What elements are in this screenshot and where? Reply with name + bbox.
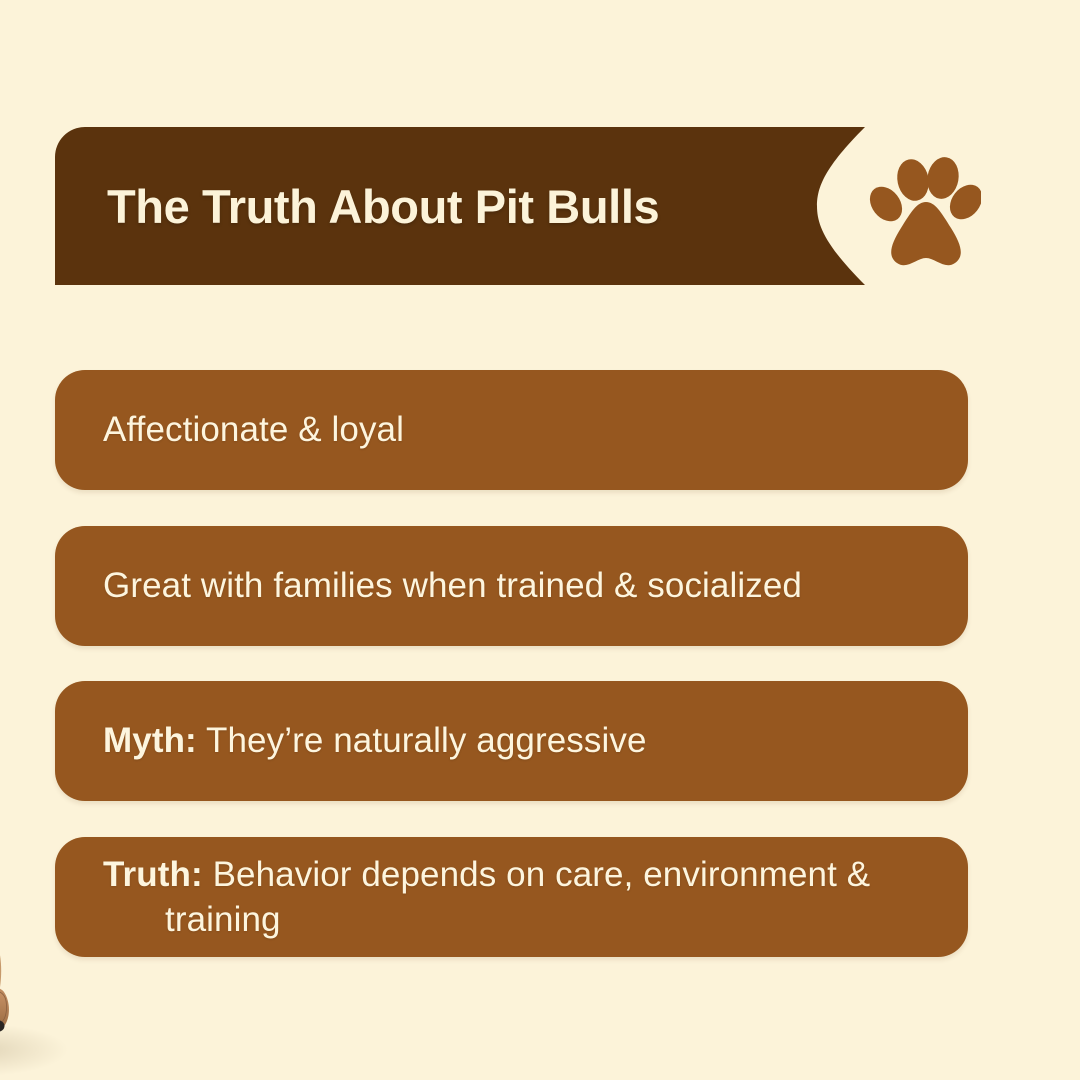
fact-card[interactable]: Great with families when trained & socia… [55, 526, 968, 646]
fact-card-text: Great with families when trained & socia… [103, 563, 802, 609]
truth-card[interactable]: Truth: Behavior depends on care, environ… [55, 837, 968, 957]
header-bar: The Truth About Pit Bulls [55, 127, 865, 285]
paw-print-icon [869, 152, 981, 270]
page-title: The Truth About Pit Bulls [107, 127, 659, 285]
poster-canvas: The Truth About Pit Bulls Affectionate &… [0, 0, 1080, 1080]
myth-card-text: Myth: They’re naturally aggressive [103, 718, 647, 764]
myth-card[interactable]: Myth: They’re naturally aggressive [55, 681, 968, 801]
fact-card-body: Great with families when trained & socia… [103, 566, 802, 605]
truth-card-body: Behavior depends on care, environment & … [165, 855, 870, 940]
fact-card-body: Affectionate & loyal [103, 410, 404, 449]
fact-card-text: Affectionate & loyal [103, 407, 404, 453]
myth-card-lead: Myth: [103, 721, 197, 760]
truth-card-text: Truth: Behavior depends on care, environ… [103, 852, 920, 943]
fact-card[interactable]: Affectionate & loyal [55, 370, 968, 490]
truth-card-lead: Truth: [103, 855, 203, 894]
myth-card-body: They’re naturally aggressive [197, 721, 647, 760]
